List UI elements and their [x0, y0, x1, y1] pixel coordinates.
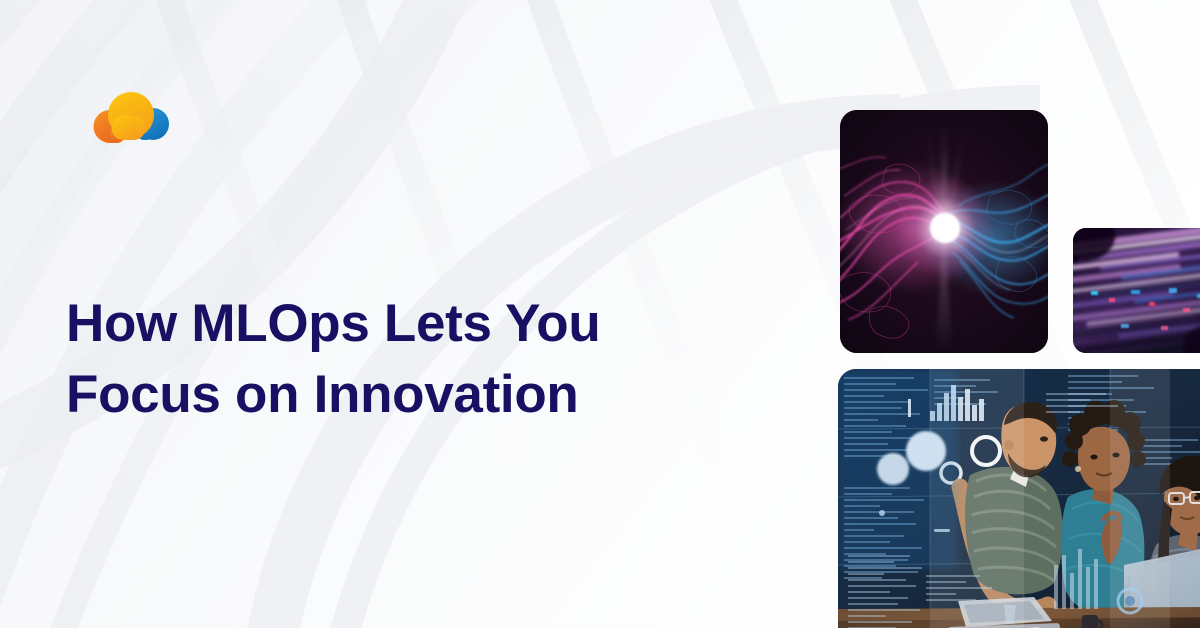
page-title: How MLOps Lets You Focus on Innovation — [66, 288, 766, 430]
page-title-line-1: How MLOps Lets You — [66, 288, 766, 359]
banner-canvas: How MLOps Lets You Focus on Innovation — [0, 0, 1200, 628]
team-at-computer-image — [838, 369, 1200, 628]
cloud-logo-icon[interactable] — [84, 86, 180, 150]
plasma-energy-image — [840, 110, 1048, 353]
motion-blur-city-image — [1073, 228, 1200, 353]
page-title-line-2: Focus on Innovation — [66, 359, 766, 430]
